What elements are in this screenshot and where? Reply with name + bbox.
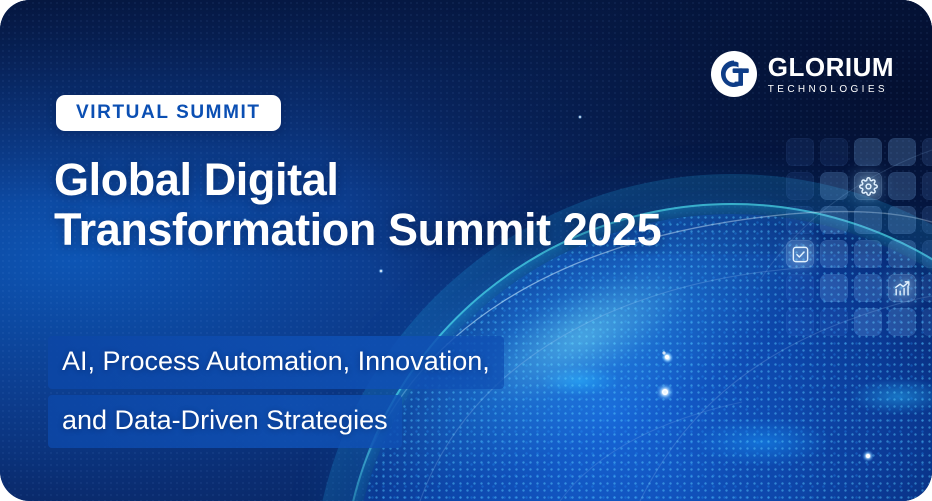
subtitle-line-2: and Data-Driven Strategies [48, 395, 402, 448]
summit-banner: VIRTUAL SUMMIT Global Digital Transforma… [0, 0, 932, 501]
subtitle-group: AI, Process Automation, Innovation, and … [48, 336, 504, 448]
brand-logo: GLORIUM TECHNOLOGIES [710, 50, 894, 98]
logo-wordmark: GLORIUM TECHNOLOGIES [768, 54, 894, 95]
page-title: Global Digital Transformation Summit 202… [54, 155, 664, 255]
virtual-summit-badge: VIRTUAL SUMMIT [56, 95, 281, 131]
banner-content: VIRTUAL SUMMIT Global Digital Transforma… [0, 0, 932, 501]
logo-company-name: GLORIUM [768, 54, 894, 80]
logo-tagline: TECHNOLOGIES [768, 85, 894, 95]
subtitle-line-1: AI, Process Automation, Innovation, [48, 336, 504, 389]
glorium-gt-monogram-icon [710, 50, 758, 98]
